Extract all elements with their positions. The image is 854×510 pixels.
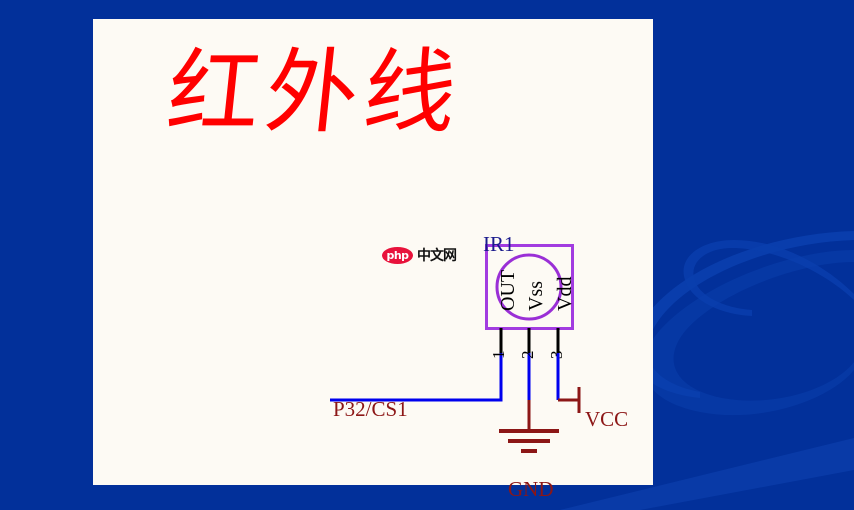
wire-out-net	[330, 353, 501, 400]
pad-label-vdd: Vdd	[554, 277, 577, 311]
pad-label-vss: Vss	[525, 281, 548, 311]
net-label-gnd: GND	[508, 477, 554, 502]
pad-label-out: OUT	[497, 270, 520, 311]
component-designator: IR1	[483, 232, 515, 257]
net-label-p32-cs1: P32/CS1	[333, 397, 408, 422]
net-label-vcc: VCC	[585, 407, 628, 432]
pin-number-3: 3	[547, 351, 567, 360]
circuit-schematic: IR1 OUT Vss Vdd 1 2 3 P32/CS1 VCC GND	[93, 19, 653, 485]
presentation-slide: 红外线 php 中文网	[0, 0, 854, 510]
pin-number-2: 2	[518, 351, 538, 360]
pin-number-1: 1	[489, 351, 509, 360]
content-panel: 红外线 php 中文网	[93, 19, 653, 485]
